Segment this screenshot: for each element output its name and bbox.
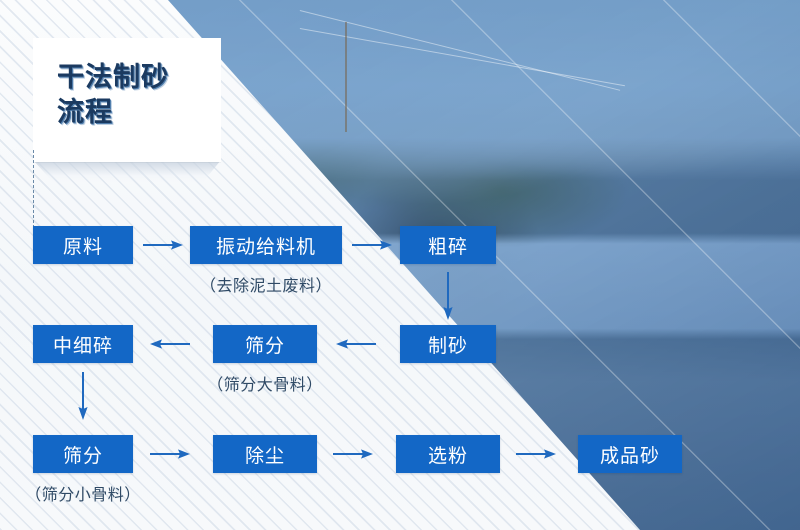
sublabel-shaifen-small: （筛分小骨料） bbox=[4, 481, 162, 505]
arrow-zhongxisui-to-shaifen2 bbox=[76, 372, 90, 420]
arrow-shaifen2-to-chuchen bbox=[150, 447, 190, 461]
flow-box-chengpinsha[interactable]: 成品砂 bbox=[578, 435, 682, 473]
arrow-xuanfen-to-chengpinsha bbox=[516, 447, 556, 461]
flow-box-xuanfen[interactable]: 选粉 bbox=[396, 435, 500, 473]
arrow-yuanliao-to-zhendong bbox=[143, 238, 183, 252]
utility-pole bbox=[345, 22, 347, 132]
page-title: 干法制砂 流程 bbox=[57, 60, 207, 130]
flow-box-cuisui[interactable]: 粗碎 bbox=[400, 226, 496, 264]
arrow-cuisui-to-zhisha bbox=[441, 272, 455, 320]
flow-box-chuchen[interactable]: 除尘 bbox=[213, 435, 317, 473]
page-title-line-2: 流程 bbox=[57, 95, 207, 130]
arrow-chuchen-to-xuanfen bbox=[333, 447, 373, 461]
flow-box-zhisha[interactable]: 制砂 bbox=[400, 325, 496, 363]
arrow-zhendong-to-cuisui bbox=[352, 238, 392, 252]
title-card: 干法制砂 流程 bbox=[33, 38, 221, 162]
flow-box-zhendongjiliaoji[interactable]: 振动给料机 bbox=[190, 226, 342, 264]
title-to-flow-dashed-connector bbox=[33, 150, 34, 228]
flow-box-yuanliao[interactable]: 原料 bbox=[33, 226, 133, 264]
infographic-canvas: 干法制砂 流程 原料 振动给料机 （去除泥土废料） 粗碎 中细碎 筛分 （筛分大… bbox=[0, 0, 800, 530]
flow-box-shaifen-small[interactable]: 筛分 bbox=[33, 435, 133, 473]
sublabel-shaifen-large: （筛分大骨料） bbox=[186, 371, 344, 395]
title-card-fold-shadow bbox=[33, 160, 221, 182]
page-title-line-1: 干法制砂 bbox=[57, 60, 207, 95]
flow-box-shaifen-large[interactable]: 筛分 bbox=[213, 325, 317, 363]
arrow-shaifen-to-zhongxisui bbox=[150, 337, 190, 351]
arrow-zhisha-to-shaifen bbox=[336, 337, 376, 351]
sublabel-zhendongjiliaoji: （去除泥土废料） bbox=[180, 272, 352, 296]
flow-box-zhongxisui[interactable]: 中细碎 bbox=[33, 325, 133, 363]
